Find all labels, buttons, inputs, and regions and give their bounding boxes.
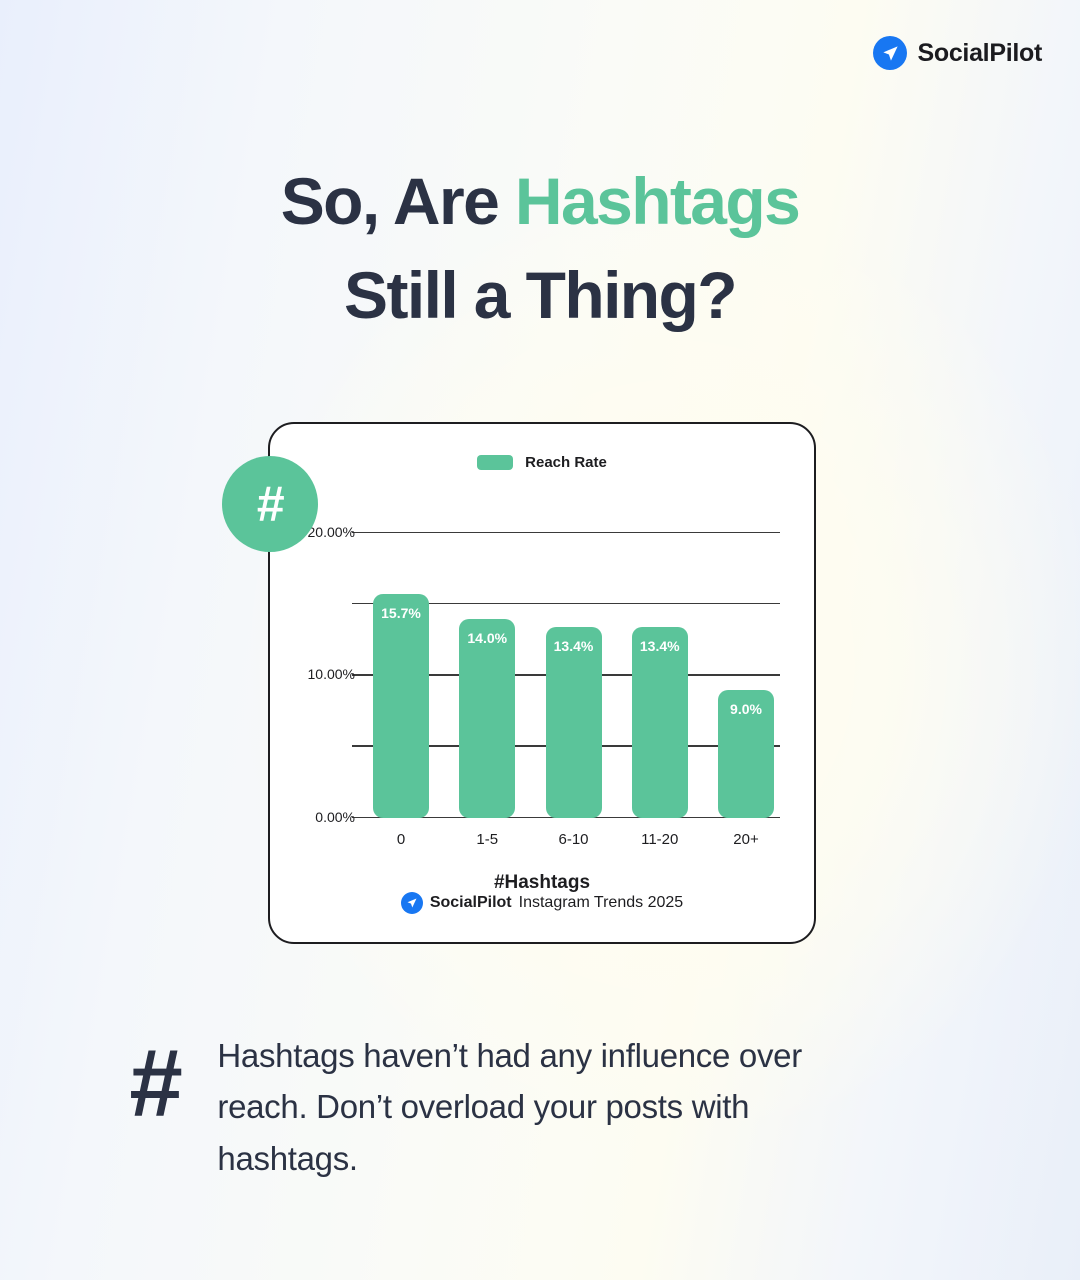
chart-legend: Reach Rate: [270, 454, 814, 471]
x-axis-title: #Hashtags: [270, 872, 814, 894]
title-line-1-accent: Hashtags: [515, 164, 799, 238]
chart-bars: 15.7% 0 14.0% 1-5 13.4% 6-10: [367, 533, 780, 818]
title-line-1-plain: So, Are: [281, 164, 515, 238]
chart-card: # Reach Rate 0.00% 10.00% 20.0: [268, 422, 816, 944]
legend-swatch-reach-rate: [477, 455, 513, 470]
bar-value-3: 13.4%: [632, 638, 688, 654]
xtick-label-2: 6-10: [546, 831, 602, 848]
bar-2[interactable]: 13.4%: [546, 627, 602, 818]
page-title: So, Are Hashtags Still a Thing?: [0, 155, 1080, 342]
paper-plane-icon: [401, 892, 423, 914]
legend-label-reach-rate: Reach Rate: [525, 454, 607, 471]
ytick-label-0: 0.00%: [315, 809, 355, 825]
bar-0[interactable]: 15.7%: [373, 594, 429, 818]
ytick-label-20: 20.00%: [308, 524, 355, 540]
xtick-label-3: 11-20: [632, 831, 688, 848]
bar-slot: 14.0% 1-5: [459, 533, 515, 818]
ytick-label-10: 10.00%: [308, 666, 355, 682]
bar-value-1: 14.0%: [459, 630, 515, 646]
brand-name: SocialPilot: [917, 39, 1042, 68]
brand-header: SocialPilot: [873, 36, 1042, 70]
chart-source-footer: SocialPilot Instagram Trends 2025: [270, 892, 814, 914]
bar-1[interactable]: 14.0%: [459, 619, 515, 819]
tick-stub-15: [352, 603, 367, 604]
infographic-page: SocialPilot So, Are Hashtags Still a Thi…: [0, 0, 1080, 1280]
paper-plane-icon: [873, 36, 907, 70]
caption-block: # Hashtags haven’t had any influence ove…: [128, 1030, 990, 1184]
bar-4[interactable]: 9.0%: [718, 690, 774, 818]
xtick-label-1: 1-5: [459, 831, 515, 848]
hashtag-badge-icon: #: [222, 456, 318, 552]
bar-slot: 15.7% 0: [373, 533, 429, 818]
chart-plot-area: 0.00% 10.00% 20.00% 15.7%: [367, 533, 780, 818]
bar-value-0: 15.7%: [373, 605, 429, 621]
xtick-label-0: 0: [373, 831, 429, 848]
source-brand: SocialPilot: [430, 894, 512, 912]
bar-value-4: 9.0%: [718, 701, 774, 717]
bar-value-2: 13.4%: [546, 638, 602, 654]
bar-slot: 13.4% 6-10: [546, 533, 602, 818]
bar-slot: 9.0% 20+: [718, 533, 774, 818]
caption-text: Hashtags haven’t had any influence over …: [217, 1030, 897, 1184]
bar-slot: 13.4% 11-20: [632, 533, 688, 818]
hashtag-icon: #: [128, 1036, 181, 1132]
bar-3[interactable]: 13.4%: [632, 627, 688, 818]
title-line-2: Still a Thing?: [344, 258, 736, 332]
source-label: Instagram Trends 2025: [519, 894, 684, 912]
tick-stub-5: [352, 745, 367, 746]
xtick-label-4: 20+: [718, 831, 774, 848]
